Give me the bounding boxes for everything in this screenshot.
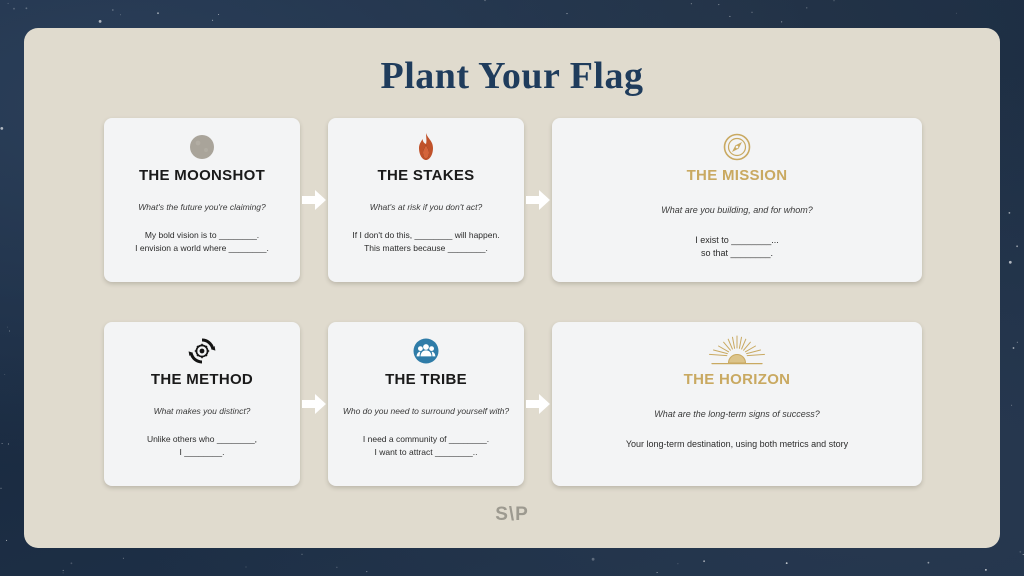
card-title-horizon: THE HORIZON	[684, 371, 791, 388]
card-question-method: What makes you distinct?	[154, 406, 251, 417]
card-question-stakes: What's at risk if you don't act?	[370, 202, 482, 213]
sunrise-icon	[706, 334, 768, 368]
card-tribe[interactable]: THE TRIBE Who do you need to surround yo…	[328, 322, 524, 486]
card-prompts-method: Unlike others who ________, I ________.	[147, 433, 257, 458]
card-title-stakes: THE STAKES	[378, 167, 475, 184]
card-stakes[interactable]: THE STAKES What's at risk if you don't a…	[328, 118, 524, 282]
card-question-moonshot: What's the future you're claiming?	[138, 202, 266, 213]
card-title-moonshot: THE MOONSHOT	[139, 167, 265, 184]
gear-cycle-icon	[188, 334, 216, 368]
card-prompts-stakes: If I don't do this, ________ will happen…	[352, 229, 499, 254]
card-horizon[interactable]: THE HORIZON What are the long-term signs…	[552, 322, 922, 486]
card-prompts-horizon: Your long-term destination, using both m…	[626, 438, 848, 451]
arrow-1	[300, 118, 328, 282]
card-question-mission: What are you building, and for whom?	[661, 204, 813, 216]
card-title-method: THE METHOD	[151, 371, 253, 388]
arrow-4	[524, 322, 552, 486]
card-method[interactable]: THE METHOD What makes you distinct? Unli…	[104, 322, 300, 486]
slide-panel: Plant Your Flag THE MOONSHOT What's the …	[24, 28, 1000, 548]
card-title-mission: THE MISSION	[687, 167, 788, 184]
card-question-horizon: What are the long-term signs of success?	[654, 408, 820, 420]
card-row-2: THE METHOD What makes you distinct? Unli…	[104, 322, 920, 486]
flame-icon	[415, 130, 437, 164]
card-grid: THE MOONSHOT What's the future you're cl…	[104, 118, 920, 526]
compass-icon	[723, 130, 751, 164]
people-group-icon	[413, 334, 439, 368]
arrow-right-icon	[526, 393, 550, 415]
card-question-tribe: Who do you need to surround yourself wit…	[343, 406, 509, 417]
card-moonshot[interactable]: THE MOONSHOT What's the future you're cl…	[104, 118, 300, 282]
arrow-3	[300, 322, 328, 486]
arrow-right-icon	[526, 189, 550, 211]
card-prompts-tribe: I need a community of ________. I want t…	[363, 433, 489, 458]
footer-logo: S\P	[24, 504, 1000, 526]
card-mission[interactable]: THE MISSION What are you building, and f…	[552, 118, 922, 282]
page-title: Plant Your Flag	[24, 54, 1000, 98]
moon-icon	[189, 130, 215, 164]
card-title-tribe: THE TRIBE	[385, 371, 467, 388]
arrow-right-icon	[302, 393, 326, 415]
card-row-1: THE MOONSHOT What's the future you're cl…	[104, 118, 920, 282]
arrow-2	[524, 118, 552, 282]
card-prompts-mission: I exist to ________... so that ________.	[695, 234, 779, 260]
card-prompts-moonshot: My bold vision is to ________. I envisio…	[135, 229, 269, 254]
arrow-right-icon	[302, 189, 326, 211]
